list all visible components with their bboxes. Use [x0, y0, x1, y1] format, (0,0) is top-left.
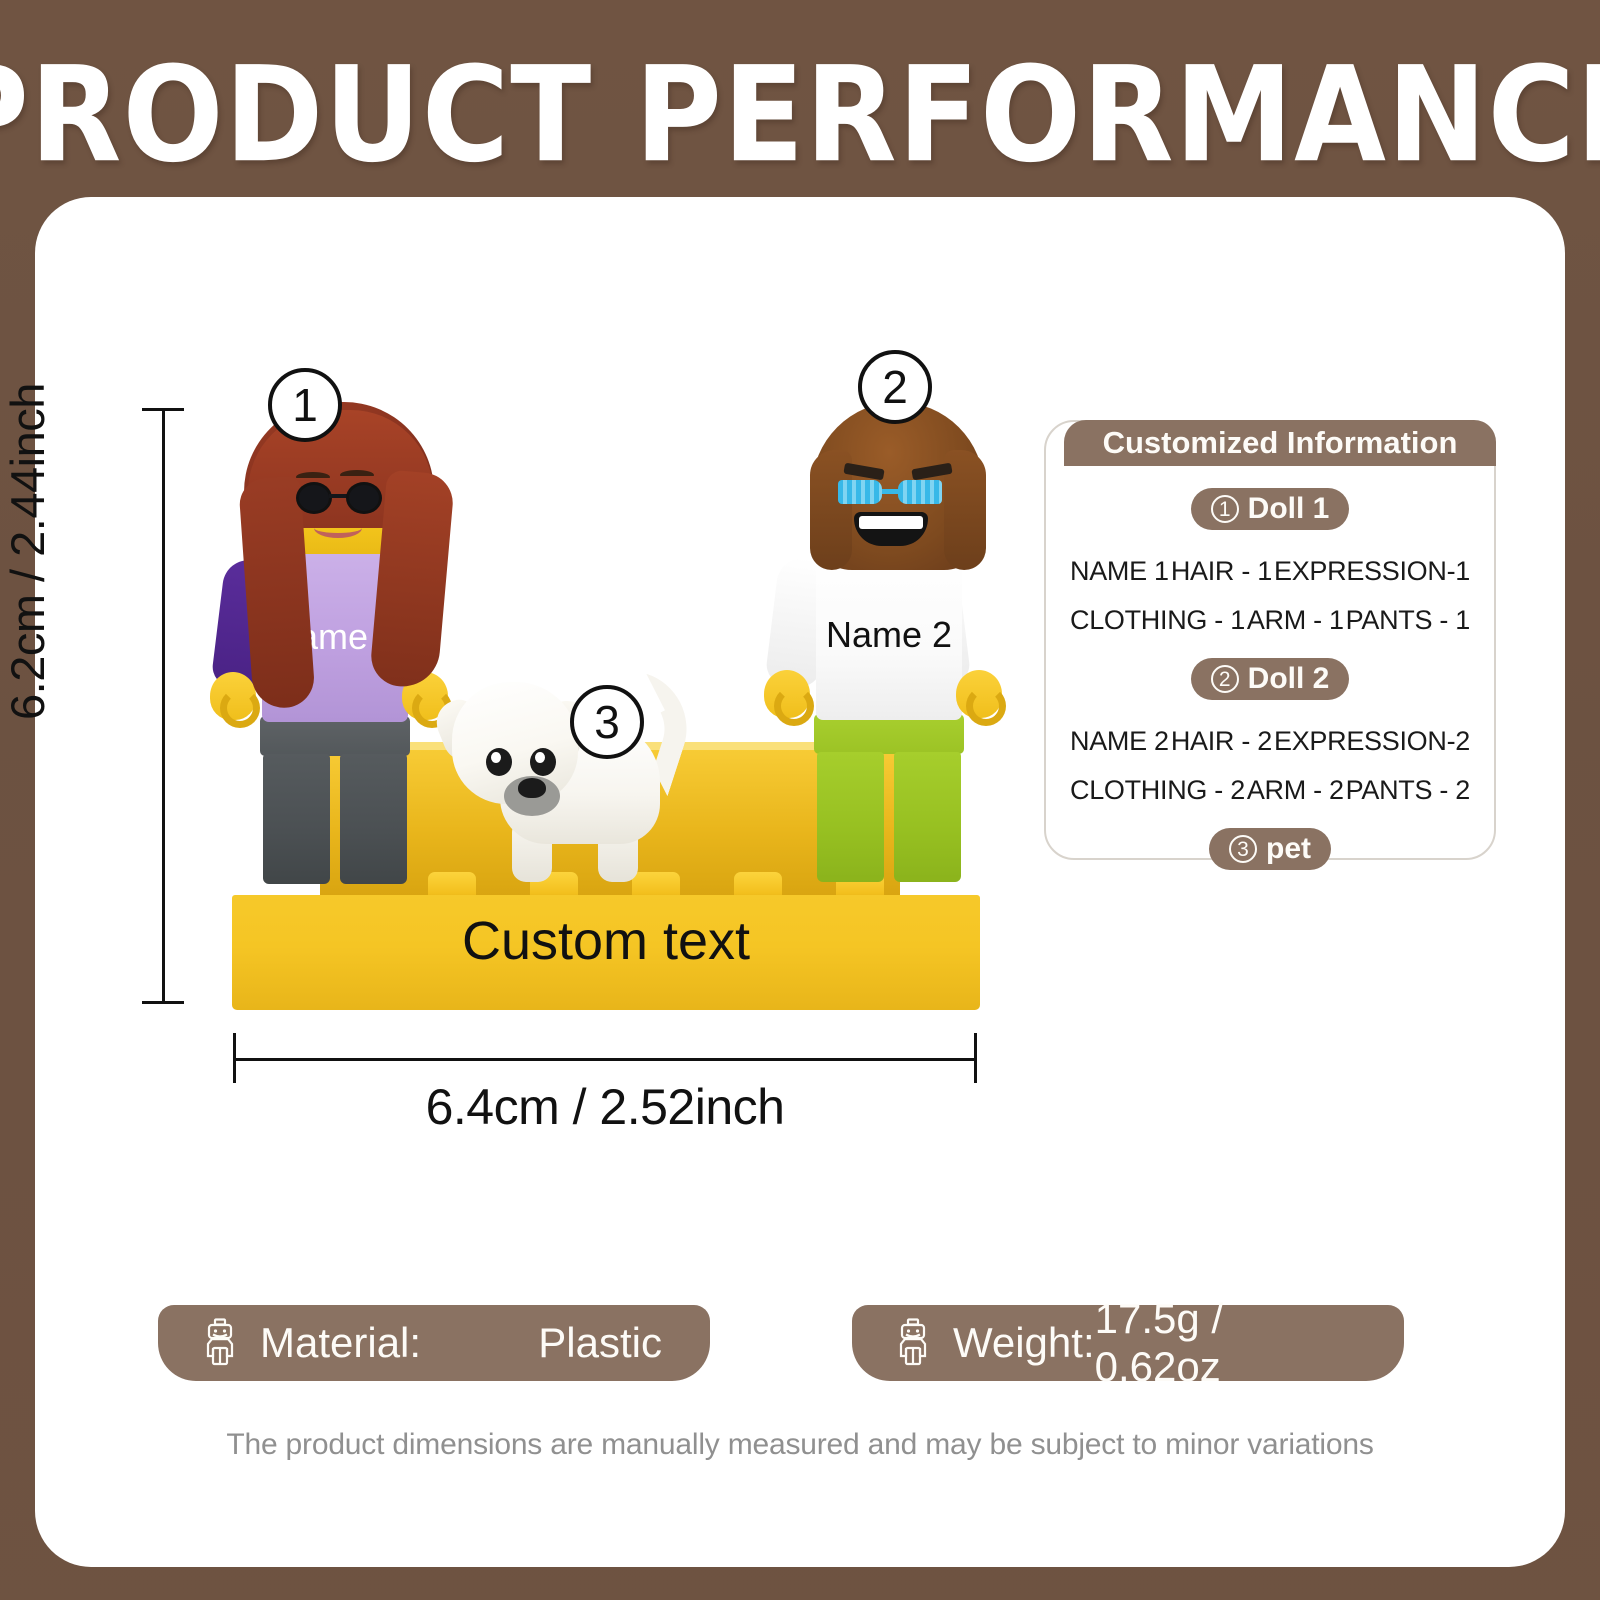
attribute-cell: EXPRESSION-1 — [1274, 556, 1470, 587]
hip-2 — [814, 714, 964, 754]
leg-right-2 — [894, 752, 961, 882]
attribute-cell: HAIR - 1 — [1171, 556, 1272, 587]
attribute-cell: EXPRESSION-2 — [1274, 726, 1470, 757]
product-scene: Name 1 Name 2 — [180, 350, 1000, 1010]
round-sunglasses-icon-1 — [296, 482, 382, 516]
group-label-1: Doll 1 — [1248, 488, 1330, 530]
torso-2: Name 2 — [816, 552, 962, 720]
weight-value: 17.5g / 0.62oz — [1095, 1295, 1356, 1391]
minifigure-2: Name 2 — [760, 380, 1060, 940]
width-dimension-label: 6.4cm / 2.52inch — [233, 1078, 977, 1136]
height-dimension-cap-top — [142, 408, 184, 411]
hand-left-1 — [210, 672, 256, 720]
hand-left-2 — [764, 670, 810, 718]
legs-2 — [814, 714, 964, 882]
group-number-2: 2 — [1211, 665, 1239, 693]
legs-1 — [260, 716, 410, 884]
disclaimer-text: The product dimensions are manually meas… — [35, 1428, 1565, 1462]
group-label-3: pet — [1266, 828, 1311, 870]
attribute-cell: CLOTHING - 2 — [1070, 775, 1245, 806]
minifigure-icon — [886, 1318, 941, 1368]
material-badge: Material: Plastic — [158, 1305, 710, 1381]
smile-1 — [314, 518, 362, 538]
customized-information-body: 1 Doll 1 NAME 1 HAIR - 1 EXPRESSION-1 CL… — [1044, 466, 1496, 860]
callout-badge-3: 3 — [570, 685, 644, 759]
attribute-cell: HAIR - 2 — [1171, 726, 1272, 757]
height-dimension-cap-bottom — [142, 1001, 184, 1004]
pet-head — [452, 682, 578, 804]
pixel-sunglasses-icon-2 — [838, 480, 942, 506]
material-label: Material: — [260, 1319, 421, 1367]
callout-badge-1: 1 — [268, 368, 342, 442]
torso-name-2: Name 2 — [816, 614, 962, 656]
group-pill-pet: 3 pet — [1209, 828, 1331, 870]
height-dimension-label: 6.2cm / 2.44inch — [0, 250, 55, 720]
width-dimension-cap-right — [974, 1033, 977, 1083]
eyebrow-left-1 — [296, 472, 330, 482]
height-dimension-line — [162, 408, 165, 1004]
attribute-cell: CLOTHING - 1 — [1070, 605, 1245, 636]
customized-information-header: Customized Information — [1064, 420, 1496, 466]
group-label-2: Doll 2 — [1248, 658, 1330, 700]
attribute-cell: ARM - 1 — [1247, 605, 1344, 636]
width-dimension-line — [233, 1058, 977, 1061]
attribute-cell: NAME 1 — [1070, 556, 1169, 587]
base-custom-text: Custom text — [232, 910, 980, 972]
hip-1 — [260, 716, 410, 756]
attribute-row: NAME 1 HAIR - 1 EXPRESSION-1 — [1044, 556, 1496, 587]
attribute-cell: PANTS - 2 — [1346, 775, 1470, 806]
callout-badge-2: 2 — [858, 350, 932, 424]
weight-label: Weight: — [953, 1319, 1095, 1367]
attribute-cell: PANTS - 1 — [1346, 605, 1470, 636]
material-value: Plastic — [538, 1319, 662, 1367]
group-number-3: 3 — [1229, 835, 1257, 863]
leg-right-1 — [340, 754, 407, 884]
attribute-cell: ARM - 2 — [1247, 775, 1344, 806]
leg-left-2 — [817, 752, 884, 882]
attribute-row: NAME 2 HAIR - 2 EXPRESSION-2 — [1044, 726, 1496, 757]
group-pill-doll-1: 1 Doll 1 — [1191, 488, 1350, 530]
minifigure-icon — [192, 1318, 248, 1368]
weight-badge: Weight: 17.5g / 0.62oz — [852, 1305, 1404, 1381]
leg-left-1 — [263, 754, 330, 884]
pet-eye-right — [530, 748, 556, 776]
pet-nose — [518, 778, 546, 798]
width-dimension-cap-left — [233, 1033, 236, 1083]
attribute-cell: NAME 2 — [1070, 726, 1169, 757]
hand-right-2 — [956, 670, 1002, 718]
attribute-row: CLOTHING - 2 ARM - 2 PANTS - 2 — [1044, 775, 1496, 806]
group-number-1: 1 — [1211, 495, 1239, 523]
page-title: PRODUCT PERFORMANCE — [0, 48, 1600, 185]
group-pill-doll-2: 2 Doll 2 — [1191, 658, 1350, 700]
pet-eye-left — [486, 748, 512, 776]
eyebrow-right-1 — [340, 470, 374, 480]
attribute-row: CLOTHING - 1 ARM - 1 PANTS - 1 — [1044, 605, 1496, 636]
